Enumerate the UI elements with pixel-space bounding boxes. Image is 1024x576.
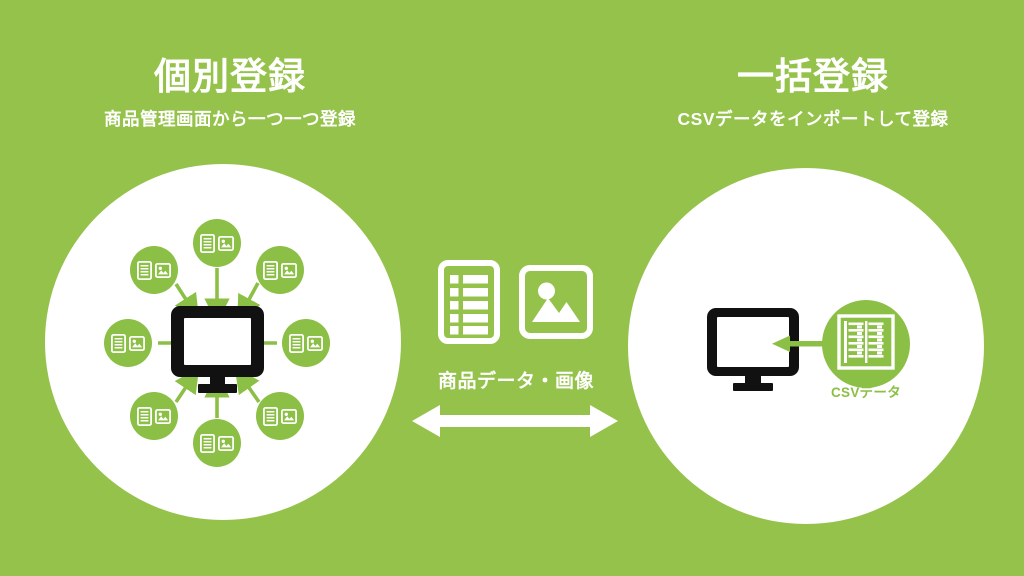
monitor-screen	[717, 317, 789, 367]
center-caption: 商品データ・画像	[416, 366, 616, 393]
product-node[interactable]	[130, 246, 178, 294]
bulk-monitor-icon	[707, 308, 803, 391]
monitor-base	[733, 383, 773, 391]
image-icon	[307, 336, 323, 351]
image-icon	[518, 264, 594, 345]
double-headed-arrow-icon	[410, 398, 620, 444]
spreadsheet-icon	[837, 314, 895, 375]
product-node[interactable]	[104, 319, 152, 367]
document-icon	[438, 260, 500, 349]
image-icon	[218, 236, 234, 251]
image-icon	[281, 409, 297, 424]
image-icon	[155, 263, 171, 278]
monitor-base	[198, 384, 237, 393]
image-icon	[129, 336, 145, 351]
product-node[interactable]	[193, 219, 241, 267]
document-icon	[289, 334, 304, 353]
document-icon	[111, 334, 126, 353]
csv-data-label: CSVデータ	[806, 381, 926, 401]
left-panel-subtitle: 商品管理画面から一つ一つ登録	[35, 106, 425, 131]
product-node[interactable]	[282, 319, 330, 367]
right-panel-subtitle: CSVデータをインポートして登録	[618, 106, 1008, 131]
center-data-icons	[420, 256, 612, 352]
image-icon	[155, 409, 171, 424]
central-monitor-icon	[171, 306, 264, 393]
image-icon	[218, 436, 234, 451]
right-panel-heading: 一括登録 CSVデータをインポートして登録	[618, 58, 1008, 131]
document-icon	[137, 261, 152, 280]
image-icon	[281, 263, 297, 278]
left-panel-heading: 個別登録 商品管理画面から一つ一つ登録	[35, 58, 425, 131]
document-icon	[200, 434, 215, 453]
document-icon	[263, 261, 278, 280]
document-icon	[137, 407, 152, 426]
right-panel-title: 一括登録	[618, 58, 1008, 97]
monitor-screen	[184, 318, 251, 365]
slide-canvas: 個別登録 商品管理画面から一つ一つ登録 一括登録 CSVデータをインポートして登…	[0, 0, 1024, 576]
product-node[interactable]	[256, 246, 304, 294]
document-icon	[200, 234, 215, 253]
csv-data-bubble[interactable]	[822, 300, 910, 388]
product-node[interactable]	[193, 419, 241, 467]
left-panel-title: 個別登録	[35, 58, 425, 97]
product-node[interactable]	[256, 392, 304, 440]
document-icon	[263, 407, 278, 426]
right-panel-disc	[628, 168, 984, 524]
product-node[interactable]	[130, 392, 178, 440]
